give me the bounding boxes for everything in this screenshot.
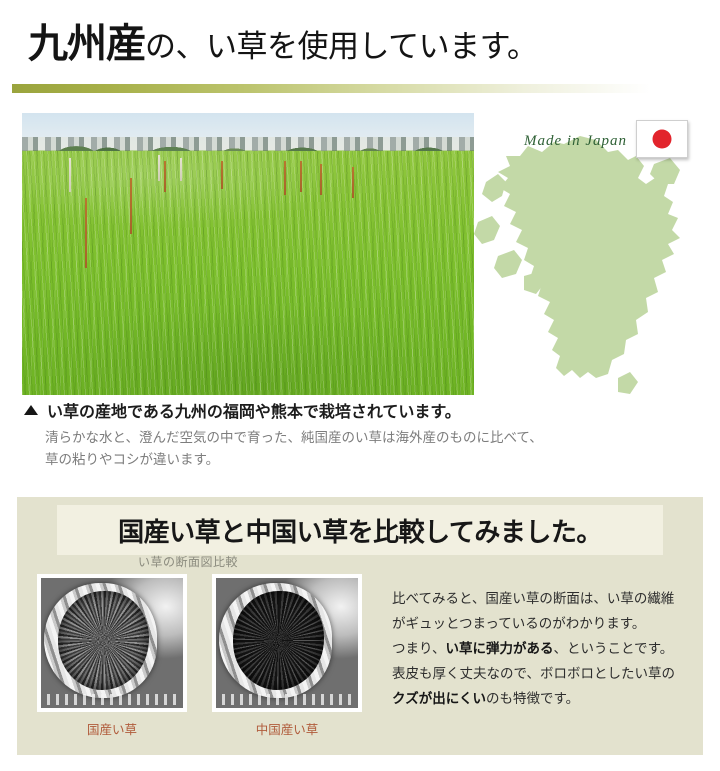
comparison-header-band: 国産い草と中国い草を比較してみました。 (57, 505, 663, 555)
comparison-line-3: つまり、い草に弾力がある、ということです。 (392, 636, 692, 661)
made-in-japan-label: Made in Japan (524, 133, 627, 150)
comparison-line-5-post: のも特徴です。 (486, 691, 579, 706)
photo-rush-field (22, 151, 474, 395)
micro-fiber-core (58, 591, 149, 690)
japan-flag-icon (636, 120, 688, 158)
micro-image-chinese-photo (216, 578, 358, 708)
field-stake (158, 155, 160, 180)
micro-image-chinese (212, 574, 362, 712)
page-title-emphasis: 九州産 (28, 21, 145, 66)
comparison-line-1: 比べてみると、国産い草の断面は、い草の繊維 (392, 586, 692, 611)
micro-scale-bar (47, 694, 178, 706)
micro-image-domestic-photo (41, 578, 183, 708)
field-stake (164, 161, 166, 192)
headline-section: 九州産の、い草を使用しています。 (0, 0, 720, 95)
field-stake (352, 167, 354, 198)
field-stake (85, 198, 87, 269)
photo-caption-line-1: 清らかな水と、澄んだ空気の中で育った、純国産のい草は海外産のものに比べて、 (45, 427, 543, 449)
micro-caption-domestic: 国産い草 (37, 719, 187, 738)
photo-caption-heading-text: い草の産地である九州の福岡や熊本で栽培されています。 (47, 398, 461, 422)
field-stake (69, 158, 71, 192)
comparison-line-5: クズが出にくいのも特徴です。 (392, 686, 692, 711)
photo-caption-line-2: 草の粘りやコシが違います。 (45, 449, 543, 471)
kyushu-map (468, 126, 708, 406)
page-title: 九州産の、い草を使用しています。 (28, 22, 537, 69)
micro-caption-chinese: 中国産い草 (212, 719, 362, 738)
photo-caption-heading: い草の産地である九州の福岡や熊本で栽培されています。 (24, 398, 461, 422)
field-stake (320, 164, 322, 195)
field-stake (221, 161, 223, 189)
comparison-line-4: 表皮も厚く丈夫なので、ボロボロとしたい草の (392, 661, 692, 686)
field-stake (180, 158, 182, 181)
field-stake (130, 178, 132, 234)
igusa-field-photo (22, 113, 474, 395)
cross-section-label: い草の断面図比較 (138, 553, 238, 570)
comparison-line-2: がギュッとつまっているのがわかります。 (392, 611, 692, 636)
comparison-line-3-post: 、ということです。 (553, 641, 673, 656)
field-stake (300, 161, 302, 192)
comparison-title: 国産い草と中国い草を比較してみました。 (118, 512, 602, 549)
comparison-body-text: 比べてみると、国産い草の断面は、い草の繊維 がギュッとつまっているのがわかります… (392, 586, 692, 711)
field-stake (284, 161, 286, 195)
comparison-line-3-bold: い草に弾力がある (445, 641, 553, 656)
page-title-rest: の、い草を使用しています。 (145, 29, 537, 64)
triangle-bullet-icon (24, 405, 38, 415)
comparison-line-3-pre: つまり、 (392, 641, 445, 656)
title-underline-rule (12, 84, 706, 93)
micro-fiber-core (233, 591, 324, 690)
flag-red-disc (653, 130, 672, 149)
micro-image-domestic (37, 574, 187, 712)
photo-caption-body: 清らかな水と、澄んだ空気の中で育った、純国産のい草は海外産のものに比べて、 草の… (45, 427, 543, 471)
comparison-line-5-bold: クズが出にくい (392, 691, 486, 706)
micro-scale-bar (222, 694, 353, 706)
